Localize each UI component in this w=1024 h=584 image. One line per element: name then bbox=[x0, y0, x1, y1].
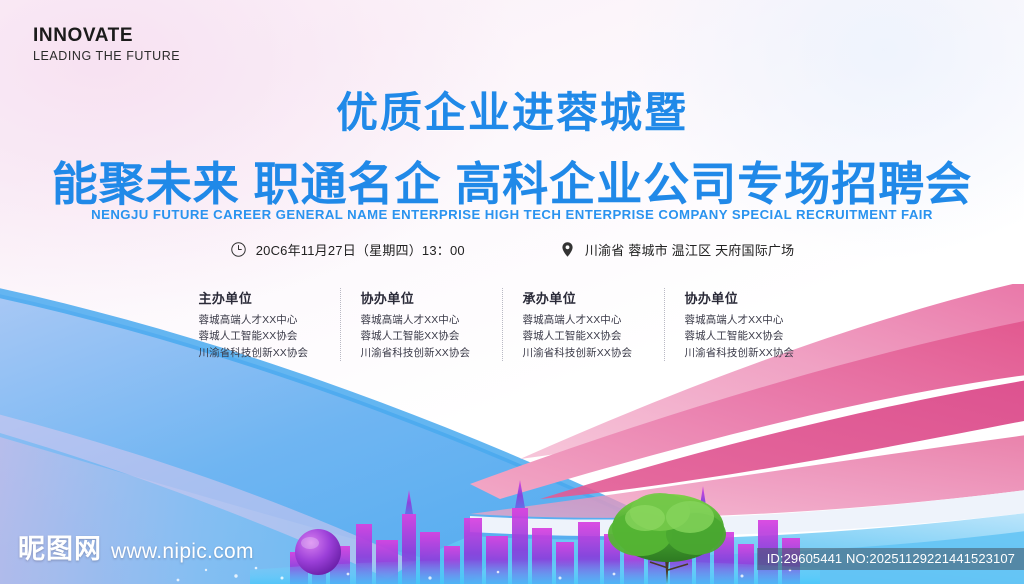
event-datetime: 20C6年11月27日（星期四）13：00 bbox=[230, 240, 465, 259]
organizer-line: 蓉城人工智能XX协会 bbox=[361, 328, 506, 344]
organizer-column: 协办单位 蓉城高端人才XX中心 蓉城人工智能XX协会 川渝省科技创新XX协会 bbox=[664, 288, 830, 361]
organizer-line: 蓉城高端人才XX中心 bbox=[361, 312, 506, 328]
title-english-subtitle: NENGJU FUTURE CAREER GENERAL NAME ENTERP… bbox=[0, 207, 1024, 222]
clock-icon bbox=[230, 241, 247, 258]
watermark-url-text: www.nipic.com bbox=[111, 540, 254, 564]
organizer-title: 主办单位 bbox=[199, 288, 344, 307]
poster-canvas: INNOVATE LEADING THE FUTURE 优质企业进蓉城暨 能聚未… bbox=[0, 0, 1024, 584]
organizer-column: 承办单位 蓉城高端人才XX中心 蓉城人工智能XX协会 川渝省科技创新XX协会 bbox=[502, 288, 668, 361]
organizer-line: 蓉城高端人才XX中心 bbox=[199, 312, 344, 328]
event-location: 川渝省 蓉城市 温江区 天府国际广场 bbox=[559, 240, 794, 259]
organizer-line: 蓉城人工智能XX协会 bbox=[685, 328, 830, 344]
brand-logo: INNOVATE LEADING THE FUTURE bbox=[33, 26, 180, 63]
organizer-line: 蓉城人工智能XX协会 bbox=[199, 328, 344, 344]
organizer-line: 蓉城高端人才XX中心 bbox=[685, 312, 830, 328]
event-datetime-text: 20C6年11月27日（星期四）13：00 bbox=[256, 240, 465, 259]
organizers-row: 主办单位 蓉城高端人才XX中心 蓉城人工智能XX协会 川渝省科技创新XX协会 协… bbox=[0, 288, 1024, 361]
map-pin-icon bbox=[559, 241, 576, 258]
organizer-line: 川渝省科技创新XX协会 bbox=[523, 345, 668, 361]
logo-name: INNOVATE bbox=[33, 26, 180, 46]
title-line-2: 能聚未来 职通名企 高科企业公司专场招聘会 bbox=[0, 148, 1024, 214]
organizer-line: 川渝省科技创新XX协会 bbox=[361, 345, 506, 361]
organizer-line: 川渝省科技创新XX协会 bbox=[685, 345, 830, 361]
organizer-line: 川渝省科技创新XX协会 bbox=[199, 345, 344, 361]
event-meta-row: 20C6年11月27日（星期四）13：00 川渝省 蓉城市 温江区 天府国际广场 bbox=[0, 240, 1024, 259]
image-id-bar: ID:29605441 NO:20251129221441523107 bbox=[757, 548, 1024, 570]
organizer-title: 协办单位 bbox=[361, 288, 506, 307]
watermark-cn-text: 昵图网 bbox=[18, 527, 102, 566]
organizer-line: 蓉城人工智能XX协会 bbox=[523, 328, 668, 344]
sphere-graphic bbox=[295, 529, 341, 575]
organizer-column: 协办单位 蓉城高端人才XX中心 蓉城人工智能XX协会 川渝省科技创新XX协会 bbox=[340, 288, 506, 361]
logo-tagline: LEADING THE FUTURE bbox=[33, 49, 180, 63]
organizer-line: 蓉城高端人才XX中心 bbox=[523, 312, 668, 328]
organizer-title: 承办单位 bbox=[523, 288, 668, 307]
site-watermark: 昵图网 www.nipic.com bbox=[18, 527, 254, 566]
organizer-column: 主办单位 蓉城高端人才XX中心 蓉城人工智能XX协会 川渝省科技创新XX协会 bbox=[195, 288, 344, 361]
event-location-text: 川渝省 蓉城市 温江区 天府国际广场 bbox=[585, 240, 794, 259]
title-line-1: 优质企业进蓉城暨 bbox=[0, 79, 1024, 140]
organizer-title: 协办单位 bbox=[685, 288, 830, 307]
